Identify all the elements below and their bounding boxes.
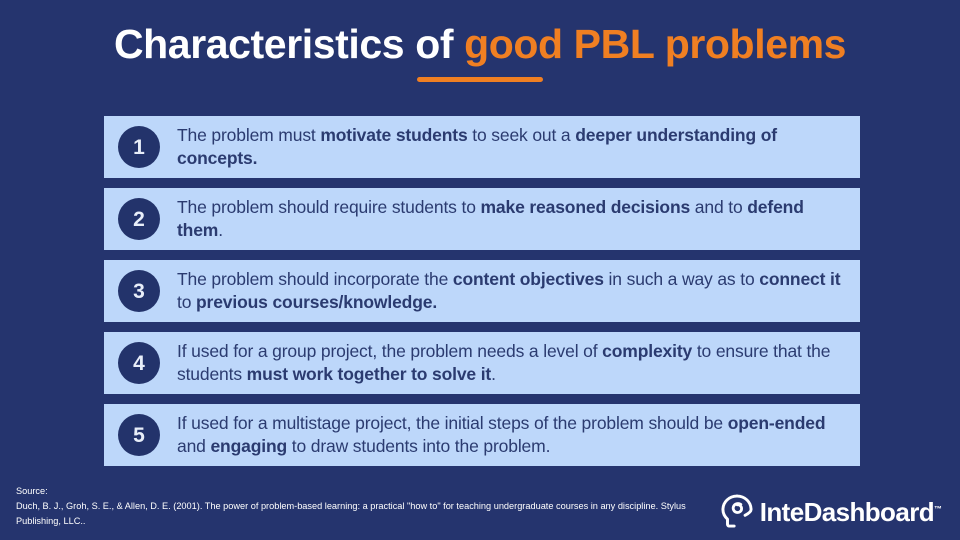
page-title-accent: good PBL problems bbox=[464, 21, 846, 67]
item-number-badge: 3 bbox=[118, 270, 160, 312]
list-item: 5 If used for a multistage project, the … bbox=[104, 404, 860, 466]
item-number-badge: 1 bbox=[118, 126, 160, 168]
item-number-badge: 5 bbox=[118, 414, 160, 456]
title-block: Characteristics of good PBL problems bbox=[0, 22, 960, 82]
item-text: If used for a group project, the problem… bbox=[177, 340, 846, 386]
item-text: The problem should require students to m… bbox=[177, 196, 846, 242]
list-item: 3 The problem should incorporate the con… bbox=[104, 260, 860, 322]
brand-wordmark: InteDashboard™ bbox=[760, 499, 942, 525]
list-item: 2 The problem should require students to… bbox=[104, 188, 860, 250]
item-text: The problem should incorporate the conte… bbox=[177, 268, 846, 314]
list-item: 1 The problem must motivate students to … bbox=[104, 116, 860, 178]
item-number-badge: 2 bbox=[118, 198, 160, 240]
brand-name-text: InteDashboard bbox=[760, 497, 934, 527]
list-item: 4 If used for a group project, the probl… bbox=[104, 332, 860, 394]
page-title-part1: Characteristics of bbox=[114, 21, 464, 67]
source-text: Duch, B. J., Groh, S. E., & Allen, D. E.… bbox=[16, 499, 686, 529]
source-citation: Source: Duch, B. J., Groh, S. E., & Alle… bbox=[16, 484, 686, 529]
trademark-symbol: ™ bbox=[934, 504, 942, 513]
lightbulb-spiral-icon bbox=[718, 493, 756, 531]
slide-root: Characteristics of good PBL problems 1 T… bbox=[0, 0, 960, 540]
title-underline-rule bbox=[417, 77, 543, 82]
brand-logo: InteDashboard™ bbox=[718, 492, 942, 532]
page-title: Characteristics of good PBL problems bbox=[0, 22, 960, 68]
item-text: If used for a multistage project, the in… bbox=[177, 412, 846, 458]
item-number-badge: 4 bbox=[118, 342, 160, 384]
source-label: Source: bbox=[16, 484, 686, 499]
item-text: The problem must motivate students to se… bbox=[177, 124, 846, 170]
characteristics-list: 1 The problem must motivate students to … bbox=[104, 116, 860, 466]
